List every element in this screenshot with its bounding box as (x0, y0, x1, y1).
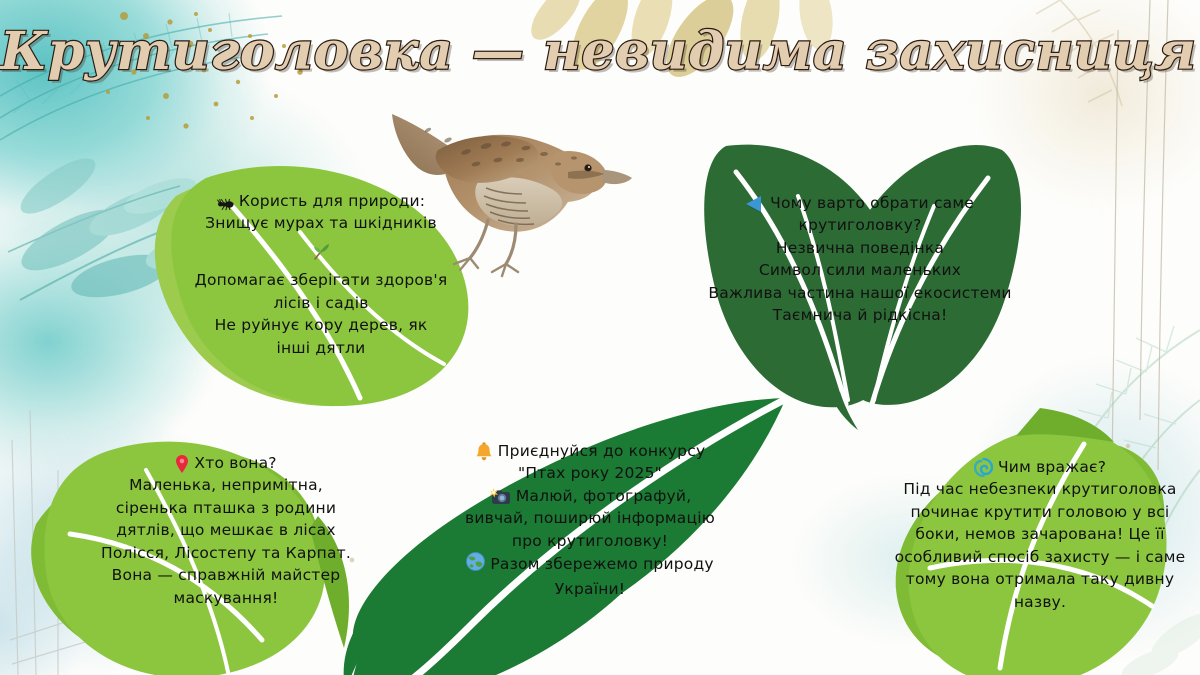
why-choose-heading-cont: крутиголовку? (700, 214, 1020, 236)
who-is-she-line-2: сіренька пташка з родини (66, 497, 386, 519)
why-choose-line-4: Таємнича й рідкісна! (700, 304, 1020, 326)
benefit-line-5: інші дятли (166, 337, 476, 359)
pin-icon (175, 454, 189, 474)
benefit-divider-icon-row (166, 241, 476, 263)
bird-eye (584, 164, 591, 171)
globe-icon (466, 552, 485, 577)
infographic-poster: Крутиголовка — невидима захисниця наших … (0, 0, 1200, 675)
who-is-she-line-6: маскування! (66, 587, 386, 609)
play-triangle-icon (746, 196, 761, 212)
contest-line-6-row: Разом збережемо природу (420, 552, 760, 577)
text-block-why-choose: Чому варто обрати саме крутиголовку? Нез… (700, 192, 1020, 327)
contest-line-6: Разом збережемо природу (490, 556, 713, 574)
benefit-line-4: Не руйнує кору дерев, як (166, 314, 476, 336)
impressive-line-4: особливий спосіб захисту — і саме (880, 546, 1200, 568)
benefit-line-1: Знищує мурах та шкідників (166, 212, 476, 234)
benefit-heading-line: Користь для природи: (166, 190, 476, 212)
contest-line-3: Малюй, фотографуй, (516, 487, 692, 505)
why-choose-line-2: Символ сили маленьких (700, 259, 1020, 281)
benefit-line-3: лісів і садів (166, 292, 476, 314)
impressive-heading-line: Чим вражає? (880, 456, 1200, 478)
contest-line-3-row: Малюй, фотографуй, (420, 485, 760, 507)
camera-flash-icon (489, 488, 511, 505)
why-choose-line-1: Незвична поведінка (700, 237, 1020, 259)
text-block-impressive: Чим вражає? Під час небезпеки крутиголов… (880, 456, 1200, 613)
why-choose-heading-line: Чому варто обрати саме (700, 192, 1020, 214)
benefit-heading: Користь для природи: (239, 192, 425, 210)
bird-beak (602, 170, 632, 184)
contest-line-5: про крутиголовку! (420, 530, 760, 552)
contest-line-1-row: Приєднуйся до конкурсу (420, 440, 760, 462)
impressive-line-5: тому вона отримала таку дивну (880, 568, 1200, 590)
impressive-line-3: боки, немов зачарована! Це її (880, 523, 1200, 545)
impressive-line-6: назву. (880, 591, 1200, 613)
who-is-she-line-5: Вона — справжній майстер (66, 564, 386, 586)
contest-line-2: "Птах року 2025" (420, 462, 760, 484)
bell-icon (475, 442, 493, 461)
contest-line-7: України! (420, 578, 760, 600)
benefit-line-2: Допомагає зберігати здоров'я (166, 269, 476, 291)
who-is-she-heading: Хто вона? (194, 454, 276, 472)
impressive-heading: Чим вражає? (998, 458, 1106, 476)
text-block-who-is-she: Хто вона? Маленька, непримітна, сіренька… (66, 452, 386, 609)
page-title: Крутиголовка — невидима захисниця наших … (0, 26, 1200, 78)
who-is-she-line-1: Маленька, непримітна, (66, 474, 386, 496)
cyclone-icon (974, 458, 993, 477)
herb-icon (311, 242, 331, 262)
who-is-she-line-4: Полісся, Лісостепу та Карпат. (66, 542, 386, 564)
who-is-she-heading-line: Хто вона? (66, 452, 386, 474)
who-is-she-line-3: дятлів, що мешкає в лісах (66, 519, 386, 541)
bird-eye-highlight (588, 166, 590, 168)
contest-line-4: вивчай, поширюй інформацію (420, 507, 760, 529)
text-block-contest: Приєднуйся до конкурсу "Птах року 2025" … (420, 440, 760, 600)
contest-line-1: Приєднуйся до конкурсу (498, 442, 706, 460)
text-block-benefit: Користь для природи: Знищує мурах та шкі… (166, 190, 476, 359)
impressive-line-1: Під час небезпеки крутиголовка (880, 478, 1200, 500)
why-choose-heading: Чому варто обрати саме (770, 194, 974, 212)
why-choose-line-3: Важлива частина нашої екосистеми (700, 282, 1020, 304)
ant-icon (217, 195, 234, 208)
impressive-line-2: починає крутити головою у всі (880, 501, 1200, 523)
